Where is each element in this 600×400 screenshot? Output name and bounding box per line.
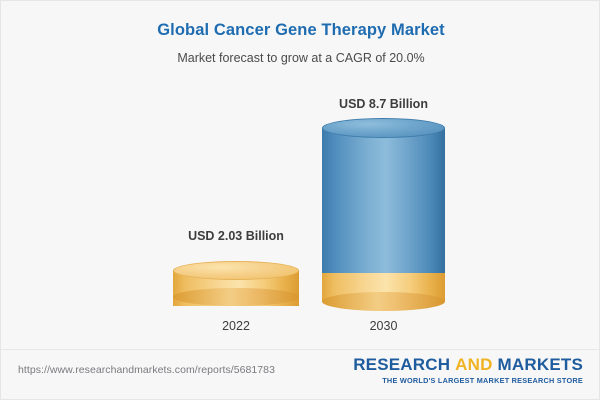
cylinder-bottom-cap bbox=[173, 288, 299, 306]
bar-cylinder-2022[interactable] bbox=[173, 261, 299, 311]
bar-group-2030: USD 8.7 Billion 2030 bbox=[322, 1, 445, 349]
bar-group-2022: USD 2.03 Billion 2022 bbox=[173, 1, 299, 349]
chart-plot-area: USD 2.03 Billion 2022 USD 8.7 Billion 20… bbox=[1, 1, 600, 349]
logo-word-markets: MARKETS bbox=[498, 355, 583, 374]
chart-card: Global Cancer Gene Therapy Market Market… bbox=[0, 0, 600, 400]
cylinder-bottom-cap bbox=[322, 292, 445, 311]
bar-category-label-2022: 2022 bbox=[222, 319, 250, 333]
logo-tagline: THE WORLD'S LARGEST MARKET RESEARCH STOR… bbox=[353, 376, 583, 385]
chart-footer: https://www.researchandmarkets.com/repor… bbox=[1, 349, 600, 400]
logo-word-and: AND bbox=[455, 355, 492, 374]
bar-category-label-2030: 2030 bbox=[370, 319, 398, 333]
logo-word-research: RESEARCH bbox=[353, 355, 450, 374]
source-url-link[interactable]: https://www.researchandmarkets.com/repor… bbox=[18, 364, 275, 376]
research-and-markets-logo[interactable]: RESEARCH AND MARKETS THE WORLD'S LARGEST… bbox=[353, 355, 583, 385]
cylinder-body bbox=[322, 128, 445, 273]
bar-value-label-2022: USD 2.03 Billion bbox=[188, 229, 284, 243]
logo-wordmark: RESEARCH AND MARKETS bbox=[353, 355, 583, 375]
cylinder-top-cap bbox=[322, 118, 445, 138]
cylinder-top-cap bbox=[173, 261, 299, 280]
bar-cylinder-2030[interactable] bbox=[322, 118, 445, 311]
bar-value-label-2030: USD 8.7 Billion bbox=[339, 97, 428, 111]
